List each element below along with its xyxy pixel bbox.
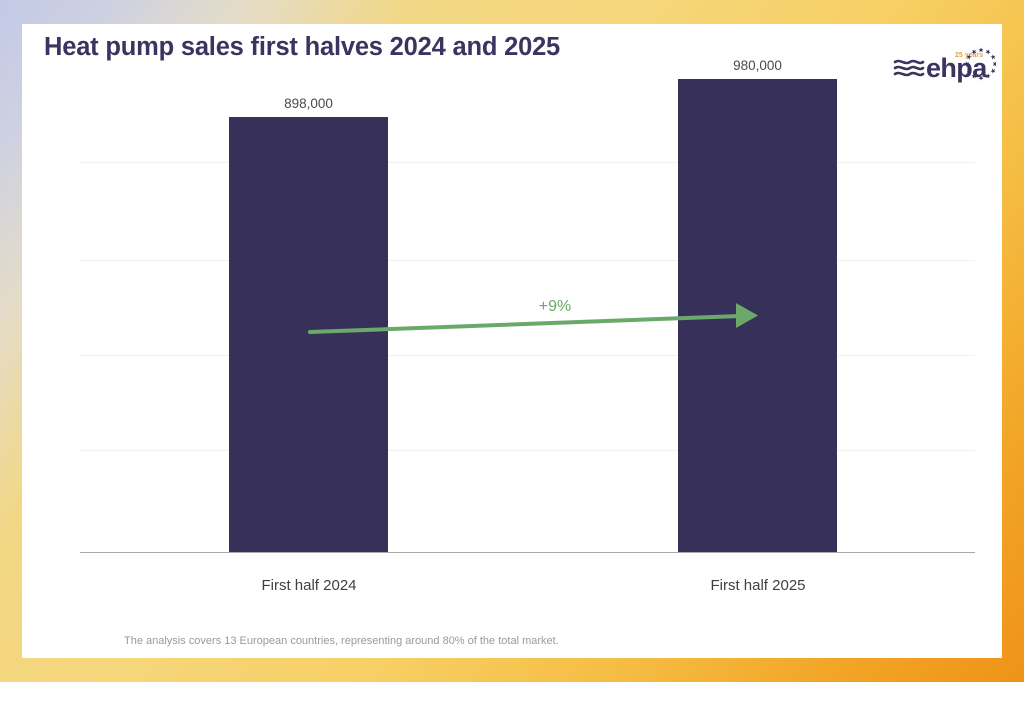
bar-first-half-2024[interactable] xyxy=(229,117,388,552)
gridline xyxy=(80,260,975,261)
bar-value-label-2024: 898,000 xyxy=(229,96,388,111)
gridline xyxy=(80,355,975,356)
gridline xyxy=(80,162,975,163)
gridline xyxy=(80,450,975,451)
category-label-2024: First half 2024 xyxy=(219,577,399,594)
x-axis-line xyxy=(80,552,975,553)
chart-card: Heat pump sales first halves 2024 and 20… xyxy=(22,24,1002,658)
category-label-2025: First half 2025 xyxy=(668,577,848,594)
bar-value-label-2025: 980,000 xyxy=(678,58,837,73)
chart-footnote: The analysis covers 13 European countrie… xyxy=(124,635,559,647)
gradient-frame: Heat pump sales first halves 2024 and 20… xyxy=(0,0,1024,682)
growth-percentage-label: +9% xyxy=(515,298,595,316)
bar-first-half-2025[interactable] xyxy=(678,79,837,552)
